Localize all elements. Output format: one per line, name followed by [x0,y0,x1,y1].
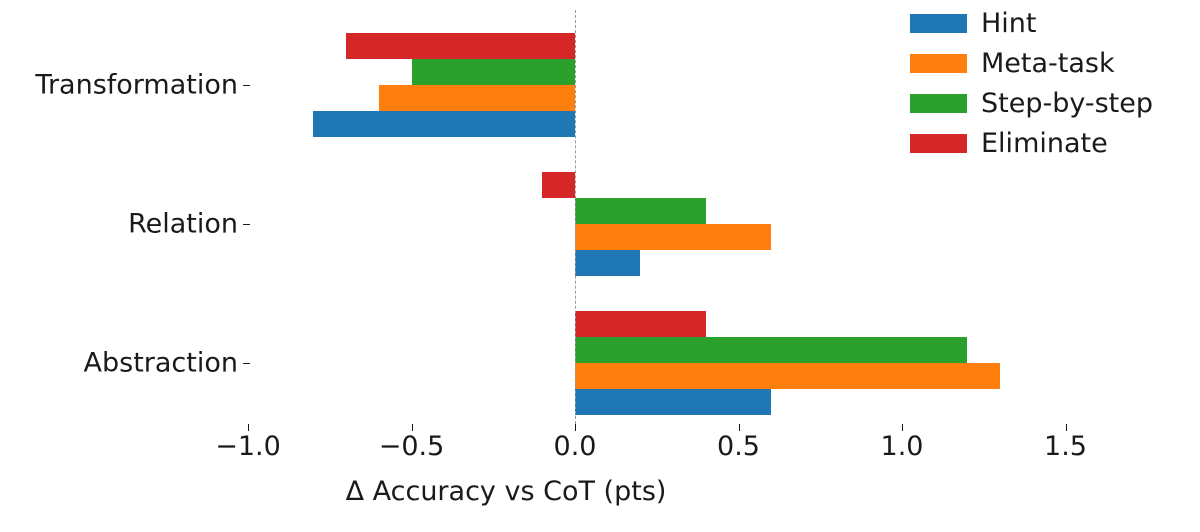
legend-item: Eliminate [910,128,1153,159]
x-axis-tick-label: −0.5 [379,433,445,460]
legend-label: Hint [981,10,1037,37]
bar-chart-figure: TransformationRelationAbstraction Δ Accu… [0,0,1200,532]
x-axis-label: Δ Accuracy vs CoT (pts) [0,476,1200,507]
x-axis-label-text: Δ Accuracy vs CoT (pts) [346,476,667,507]
y-axis-tick [243,224,250,225]
x-axis-tick-label: 0.0 [554,433,597,460]
bar [575,198,706,224]
x-axis-tick-label: 1.0 [881,433,924,460]
y-axis-tick [243,363,250,364]
legend-item: Meta-task [910,48,1153,79]
bar [575,311,706,337]
x-axis-tick [575,424,576,431]
bar [575,363,1000,389]
bar [575,224,771,250]
bar [412,59,576,85]
y-axis-tick-label: Relation [128,211,238,238]
legend-color-swatch [910,14,967,33]
x-axis: Δ Accuracy vs CoT (pts) −1.0−0.50.00.51.… [0,424,1200,532]
x-axis-tick [902,424,903,431]
legend-item: Step-by-step [910,88,1153,119]
legend-label: Meta-task [981,50,1115,77]
bar [313,111,575,137]
legend: HintMeta-taskStep-by-stepEliminate [910,8,1153,159]
legend-color-swatch [910,94,967,113]
x-axis-tick [739,424,740,431]
bar [575,337,967,363]
bar [346,33,575,59]
x-axis-tick [248,424,249,431]
legend-label: Step-by-step [981,90,1153,117]
y-axis-tick-label: Abstraction [84,350,238,377]
legend-label: Eliminate [981,130,1108,157]
x-axis-tick-label: 0.5 [717,433,760,460]
y-axis-tick [243,85,250,86]
y-axis-tick-label: Transformation [35,72,238,99]
x-axis-tick [1066,424,1067,431]
legend-item: Hint [910,8,1153,39]
bar [542,172,575,198]
legend-color-swatch [910,54,967,73]
zero-reference-line [575,10,576,424]
bar [575,250,640,276]
x-axis-tick [412,424,413,431]
x-axis-tick-label: 1.5 [1044,433,1087,460]
x-axis-tick-label: −1.0 [215,433,281,460]
bar [575,389,771,415]
bar [379,85,575,111]
legend-color-swatch [910,134,967,153]
